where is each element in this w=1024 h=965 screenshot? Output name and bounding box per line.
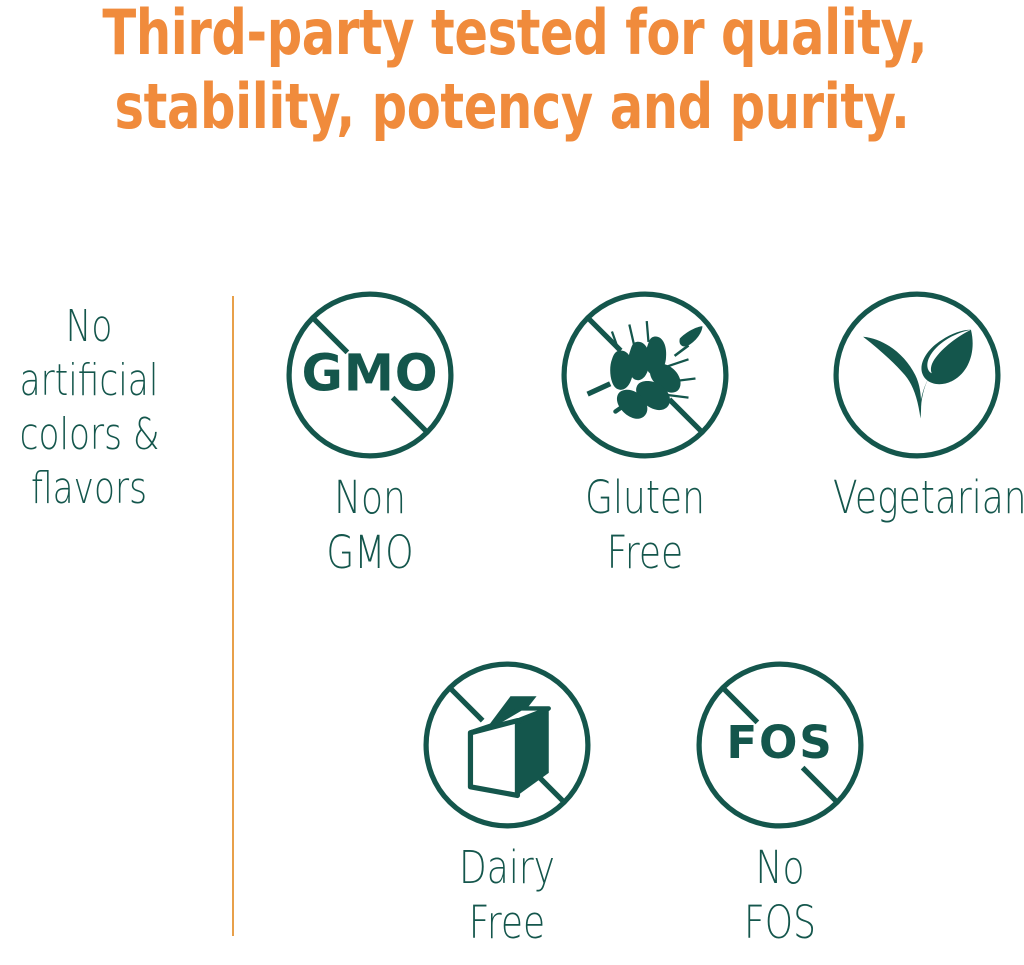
- badge-label-vegetarian: Vegetarian: [833, 470, 1001, 525]
- claim-line-2: artificial: [20, 354, 159, 408]
- badge-label-line-2: GMO: [286, 525, 454, 580]
- badge-non-gmo: GMO Non GMO: [265, 288, 475, 580]
- badge-label-line-1: No: [696, 840, 864, 895]
- claim-line-3: colors &: [20, 408, 159, 462]
- badge-label-line-1: Non: [286, 470, 454, 525]
- badge-vegetarian: Vegetarian: [812, 288, 1022, 525]
- no-artificial-claim: No artificial colors & flavors: [20, 300, 159, 516]
- badge-label-line-1: Dairy: [423, 840, 591, 895]
- page-headline: Third-party tested for quality, stabilit…: [102, 0, 921, 144]
- badge-dairy-free: Dairy Free: [402, 658, 612, 950]
- badge-label-no-fos: No FOS: [696, 840, 864, 950]
- no-fos-icon: FOS: [693, 658, 867, 832]
- badge-label-line-2: Free: [561, 525, 729, 580]
- sprout-leaf-icon: [830, 288, 1004, 462]
- no-milk-carton-icon: [420, 658, 594, 832]
- headline-line-1: Third-party tested for quality,: [102, 0, 921, 70]
- badge-label-dairy-free: Dairy Free: [423, 840, 591, 950]
- badge-label-line-2: FOS: [696, 895, 864, 950]
- headline-line-2: stability, potency and purity.: [102, 70, 921, 144]
- wheat-stalk: [610, 321, 702, 419]
- vertical-divider: [232, 296, 234, 936]
- gmo-icon-text: GMO: [301, 344, 438, 403]
- badge-label-gluten-free: Gluten Free: [561, 470, 729, 580]
- fos-icon-text: FOS: [726, 716, 833, 769]
- no-gmo-icon: GMO: [283, 288, 457, 462]
- badge-label-line-1: Gluten: [561, 470, 729, 525]
- badge-label-line-1: Vegetarian: [833, 470, 1001, 525]
- badge-gluten-free: Gluten Free: [540, 288, 750, 580]
- milk-carton: [470, 696, 548, 795]
- claim-line-4: flavors: [20, 462, 159, 516]
- sprout-shape: [863, 330, 973, 419]
- badge-no-fos: FOS No FOS: [675, 658, 885, 950]
- badge-label-line-2: Free: [423, 895, 591, 950]
- claim-line-1: No: [20, 300, 159, 354]
- badge-label-non-gmo: Non GMO: [286, 470, 454, 580]
- no-wheat-icon: [558, 288, 732, 462]
